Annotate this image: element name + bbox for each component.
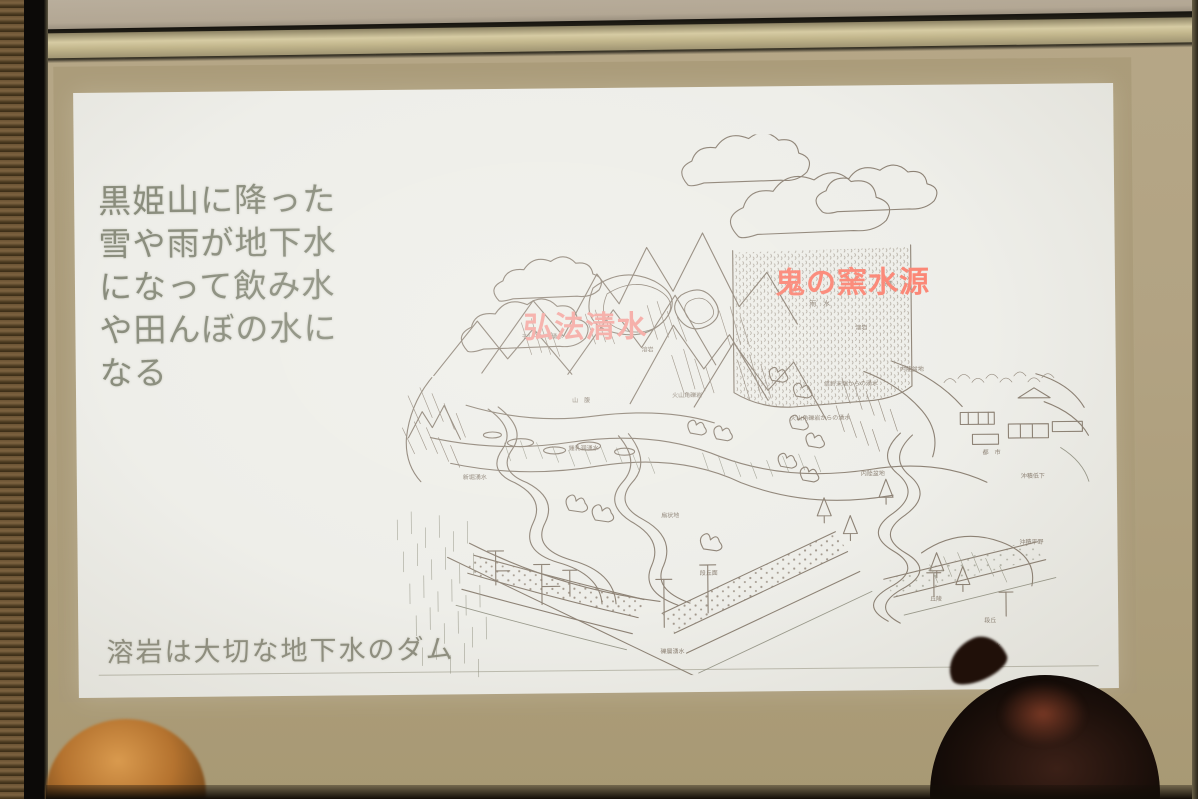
svg-text:火山角礫岩からの湧水: 火山角礫岩からの湧水 (790, 414, 850, 423)
screenshot-root: .ln { fill:none; stroke:#8d8275; stroke-… (0, 0, 1198, 799)
svg-text:内陸盆地: 内陸盆地 (861, 469, 885, 477)
wall-dark-column (24, 0, 46, 799)
annotation-label-oni-no-kama-suigen: 鬼の窯水源 (775, 257, 930, 302)
svg-text:段丘面: 段丘面 (700, 569, 718, 577)
svg-text:鍾乳洞湧水: 鍾乳洞湧水 (569, 444, 599, 452)
svg-text:新堀湧水: 新堀湧水 (463, 473, 487, 481)
wall-column-edge (44, 0, 48, 799)
svg-text:火山角礫岩: 火山角礫岩 (672, 391, 702, 399)
svg-text:山 腹: 山 腹 (572, 396, 590, 404)
foreground-shadow (46, 785, 1192, 799)
svg-text:溶岩: 溶岩 (855, 323, 867, 331)
svg-text:扇状地: 扇状地 (661, 511, 679, 519)
slide-headline: 黒姫山に降った 雪や雨が地下水 になって飲み水 や田んぼの水に なる (98, 178, 400, 395)
svg-text:礫層湧水: 礫層湧水 (660, 647, 684, 655)
svg-text:内陸盆地: 内陸盆地 (900, 365, 924, 373)
svg-text:丘陵: 丘陵 (930, 595, 942, 603)
svg-text:溶岩: 溶岩 (642, 345, 654, 353)
audience-head-right-highlight (1000, 683, 1086, 745)
svg-text:信鈴末端からの湧水: 信鈴末端からの湧水 (824, 379, 878, 388)
wall-slat-panel (0, 0, 24, 799)
svg-text:沖積低下: 沖積低下 (1021, 472, 1045, 480)
groundwater-diagram-illustration: .ln { fill:none; stroke:#8d8275; stroke-… (370, 131, 1105, 678)
projected-slide: .ln { fill:none; stroke:#8d8275; stroke-… (73, 83, 1119, 698)
annotation-label-kobo-shimizu: 弘法清水 (523, 302, 647, 347)
right-wall-edge (1192, 0, 1198, 799)
svg-text:都 市: 都 市 (983, 448, 1001, 456)
slide-footnote: 溶岩は大切な地下水のダム (106, 627, 454, 669)
svg-text:沖積平野: 沖積平野 (1019, 538, 1043, 546)
svg-text:段丘: 段丘 (984, 616, 996, 624)
